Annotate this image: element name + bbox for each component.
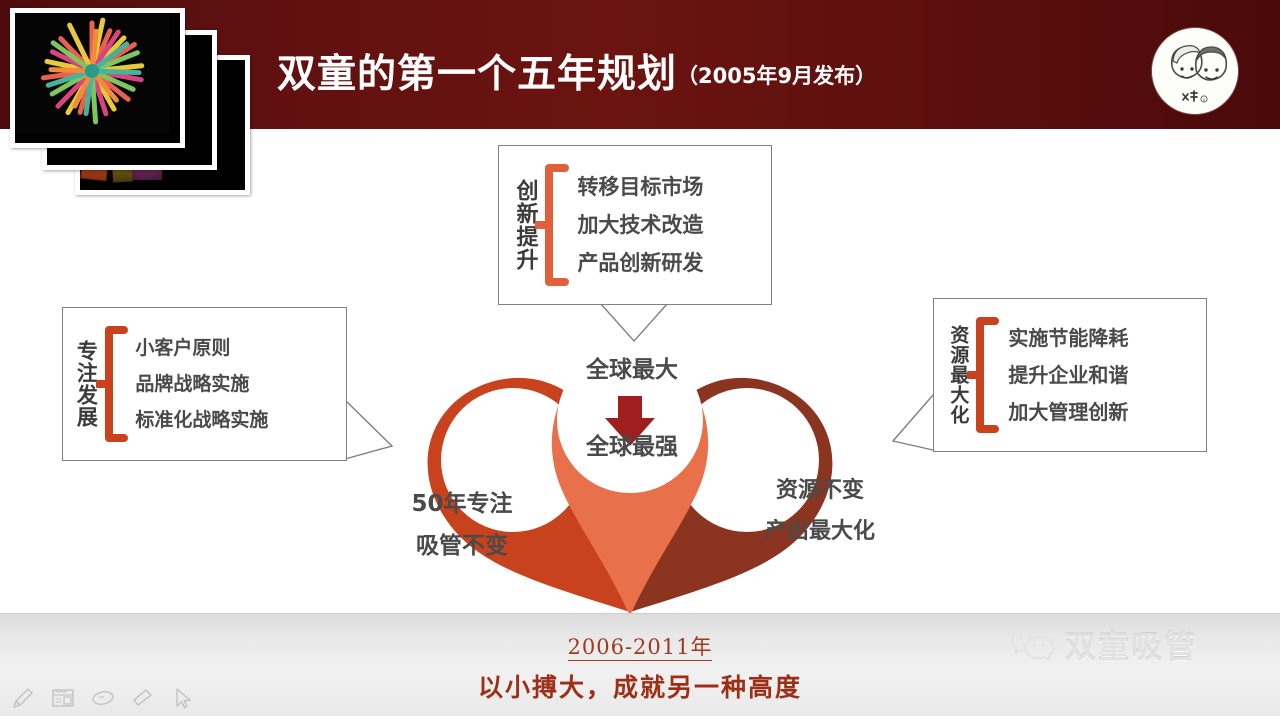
logo-artwork: R: [1152, 28, 1238, 114]
callout-focus-category: 专注发展: [75, 340, 96, 428]
list-item: 品牌战略实施: [135, 366, 268, 402]
list-item: 标准化战略实施: [135, 402, 268, 438]
pen-tool-icon[interactable]: [10, 686, 36, 710]
footer-year-range-text: 2006-2011年: [568, 635, 713, 661]
pin-center-line2: 全球最强: [552, 432, 712, 462]
callout-innovation-category: 创新提升: [513, 179, 535, 271]
pin-left-line1: 50年专注: [372, 483, 552, 525]
callout-innovation-items: 转移目标市场 加大技术改造 产品创新研发: [577, 168, 703, 282]
page-title: 双童的第一个五年规划（2005年9月发布）: [277, 55, 876, 94]
wechat-icon: [1010, 626, 1056, 664]
straw-burst-artwork: [15, 13, 170, 133]
list-item: 转移目标市场: [577, 168, 703, 206]
svg-text:R: R: [1203, 98, 1206, 103]
shuangtong-logo: R: [1152, 28, 1238, 114]
wechat-watermark: 双童吸管: [1010, 622, 1197, 667]
page-title-main: 双童的第一个五年规划: [277, 52, 677, 97]
callout-focus-items: 小客户原则 品牌战略实施 标准化战略实施: [135, 330, 268, 438]
list-item: 加大技术改造: [577, 206, 703, 244]
list-item: 提升企业和谐: [1008, 357, 1128, 394]
callout-resource-category: 资源最大化: [948, 325, 967, 425]
brace-icon: [535, 162, 569, 288]
pin-right-label: 资源不变 产出最大化: [725, 470, 915, 552]
slide-canvas: 双童的第一个五年规划（2005年9月发布） R: [0, 0, 1280, 716]
callout-innovation[interactable]: 创新提升 转移目标市场 加大技术改造 产品创新研发: [498, 145, 772, 305]
wechat-watermark-text: 双童吸管: [1065, 622, 1197, 667]
pin-center-line1: 全球最大: [552, 355, 712, 385]
annotation-window-icon[interactable]: [50, 686, 76, 710]
annotation-toolbar: [10, 686, 196, 710]
pin-right-line2: 产出最大化: [725, 511, 915, 552]
brace-icon: [967, 315, 999, 435]
cursor-tool-icon[interactable]: [170, 686, 196, 710]
callout-resource-items: 实施节能降耗 提升企业和谐 加大管理创新: [1008, 320, 1128, 431]
collage-photo-1: [10, 8, 185, 148]
list-item: 加大管理创新: [1008, 394, 1128, 431]
list-item: 产品创新研发: [577, 244, 703, 282]
pin-left-label: 50年专注 吸管不变: [372, 483, 552, 567]
ellipse-tool-icon[interactable]: [90, 686, 116, 710]
brace-icon: [96, 324, 128, 444]
list-item: 小客户原则: [135, 330, 268, 366]
pin-left-line2: 吸管不变: [372, 525, 552, 567]
list-item: 实施节能降耗: [1008, 320, 1128, 357]
callout-resource[interactable]: 资源最大化 实施节能降耗 提升企业和谐 加大管理创新: [933, 298, 1207, 452]
straw-photo-collage: [0, 0, 260, 200]
page-title-sub: （2005年9月发布）: [677, 64, 876, 88]
callout-focus[interactable]: 专注发展 小客户原则 品牌战略实施 标准化战略实施: [62, 307, 347, 461]
pin-right-line1: 资源不变: [725, 470, 915, 511]
eraser-tool-icon[interactable]: [130, 686, 156, 710]
